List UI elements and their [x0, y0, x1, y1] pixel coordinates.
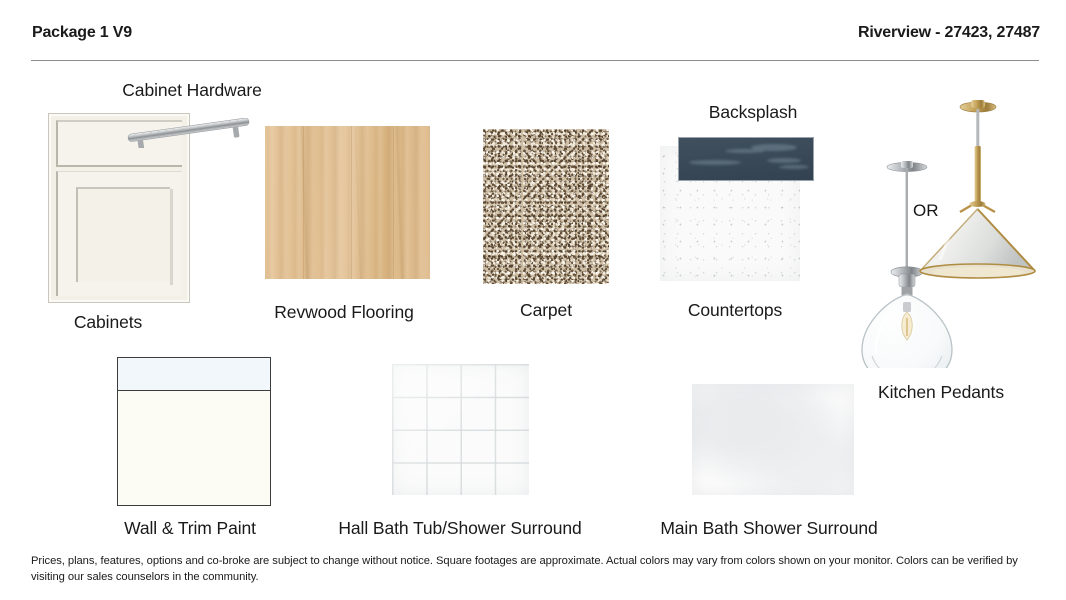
package-title: Package 1 V9	[32, 24, 132, 42]
header-divider	[31, 60, 1039, 61]
carpet-label: Carpet	[520, 300, 572, 321]
cabinets-label: Cabinets	[74, 312, 142, 333]
countertops-label: Countertops	[688, 300, 782, 321]
backsplash-swatch[interactable]	[678, 137, 814, 181]
wall-paint-color	[118, 391, 270, 505]
main-bath-surround-label: Main Bath Shower Surround	[660, 518, 877, 539]
plank-seam	[303, 126, 304, 279]
hall-bath-surround-swatch[interactable]	[392, 364, 529, 495]
hall-bath-surround-label: Hall Bath Tub/Shower Surround	[338, 518, 581, 539]
tile-sheen	[751, 144, 797, 151]
main-bath-surround-swatch[interactable]	[692, 384, 854, 495]
cabinet-shaker-panel	[76, 187, 170, 282]
revwood-flooring-label: Revwood Flooring	[274, 302, 413, 323]
carpet-swatch[interactable]	[483, 129, 609, 284]
plank-seam	[351, 126, 352, 279]
tile-sheen	[689, 160, 741, 165]
community-title: Riverview - 27423, 27487	[858, 24, 1040, 42]
revwood-flooring-swatch[interactable]	[265, 126, 430, 279]
tile-sheen	[767, 158, 801, 163]
selection-package-sheet: Package 1 V9 Riverview - 27423, 27487 Ca…	[0, 0, 1066, 600]
trim-paint-color	[118, 358, 270, 391]
cabinet-door-lower	[56, 171, 182, 296]
cabinet-hardware-label: Cabinet Hardware	[122, 80, 261, 101]
backsplash-label: Backsplash	[709, 102, 798, 123]
pendant-lights-illustration	[850, 88, 1040, 368]
plank-seam	[393, 126, 394, 279]
cone-pendant	[920, 100, 1035, 278]
kitchen-pendants-label: Kitchen Pedants	[878, 382, 1004, 403]
wall-trim-paint-label: Wall & Trim Paint	[124, 518, 256, 539]
wall-trim-paint-swatch[interactable]	[117, 357, 271, 506]
disclaimer-text: Prices, plans, features, options and co-…	[31, 553, 1031, 585]
cabinets-swatch[interactable]	[48, 113, 190, 303]
cabinet-bar-pull-icon	[125, 118, 253, 148]
carpet-texture	[483, 129, 609, 284]
tile-sheen	[779, 165, 809, 169]
pendant-or-label: OR	[913, 201, 939, 221]
kitchen-pendants-swatch[interactable]	[850, 88, 1040, 368]
sheet-header: Package 1 V9 Riverview - 27423, 27487	[0, 24, 1066, 54]
